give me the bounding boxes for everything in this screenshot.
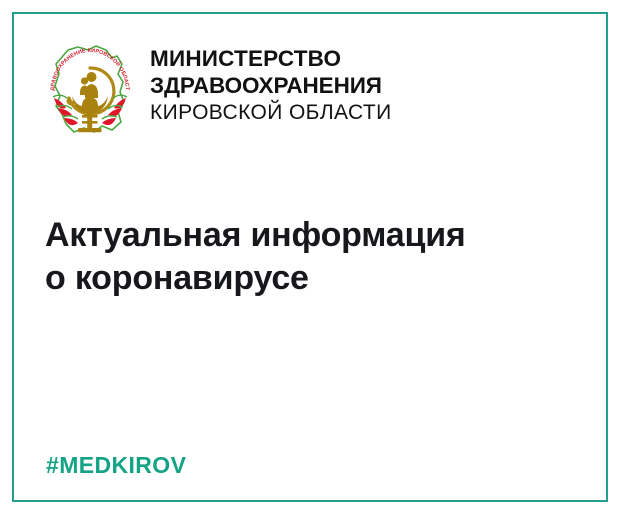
ministry-wordmark-line-3: КИРОВСКОЙ ОБЛАСТИ <box>150 99 392 126</box>
emblem-stem-ring-1 <box>82 115 98 118</box>
ministry-of-health-kirov-oblast-emblem-icon: ЗДРАВООХРАНЕНИЕ КИРОВСКОЙ ОБЛАСТИ <box>44 40 136 138</box>
headline: Актуальная информация о коронавирусе <box>45 214 545 300</box>
headline-line-2: о коронавирусе <box>45 257 545 300</box>
emblem-child-head <box>81 77 88 84</box>
announcement-card: ЗДРАВООХРАНЕНИЕ КИРОВСКОЙ ОБЛАСТИ <box>0 0 620 517</box>
ministry-wordmark-line-1: МИНИСТЕРСТВО <box>150 45 392 72</box>
emblem-pedestal <box>78 128 102 132</box>
ministry-logo-lockup: ЗДРАВООХРАНЕНИЕ КИРОВСКОЙ ОБЛАСТИ <box>44 40 392 138</box>
headline-line-1: Актуальная информация <box>45 214 545 257</box>
emblem-ribbon-left <box>53 95 78 125</box>
emblem-stem-ring-2 <box>82 121 98 124</box>
hashtag-medkirov: #MEDKIROV <box>46 452 186 479</box>
ministry-wordmark: МИНИСТЕРСТВО ЗДРАВООХРАНЕНИЯ КИРОВСКОЙ О… <box>150 40 392 126</box>
emblem-stem <box>87 112 92 128</box>
ministry-wordmark-line-2: ЗДРАВООХРАНЕНИЯ <box>150 72 392 99</box>
